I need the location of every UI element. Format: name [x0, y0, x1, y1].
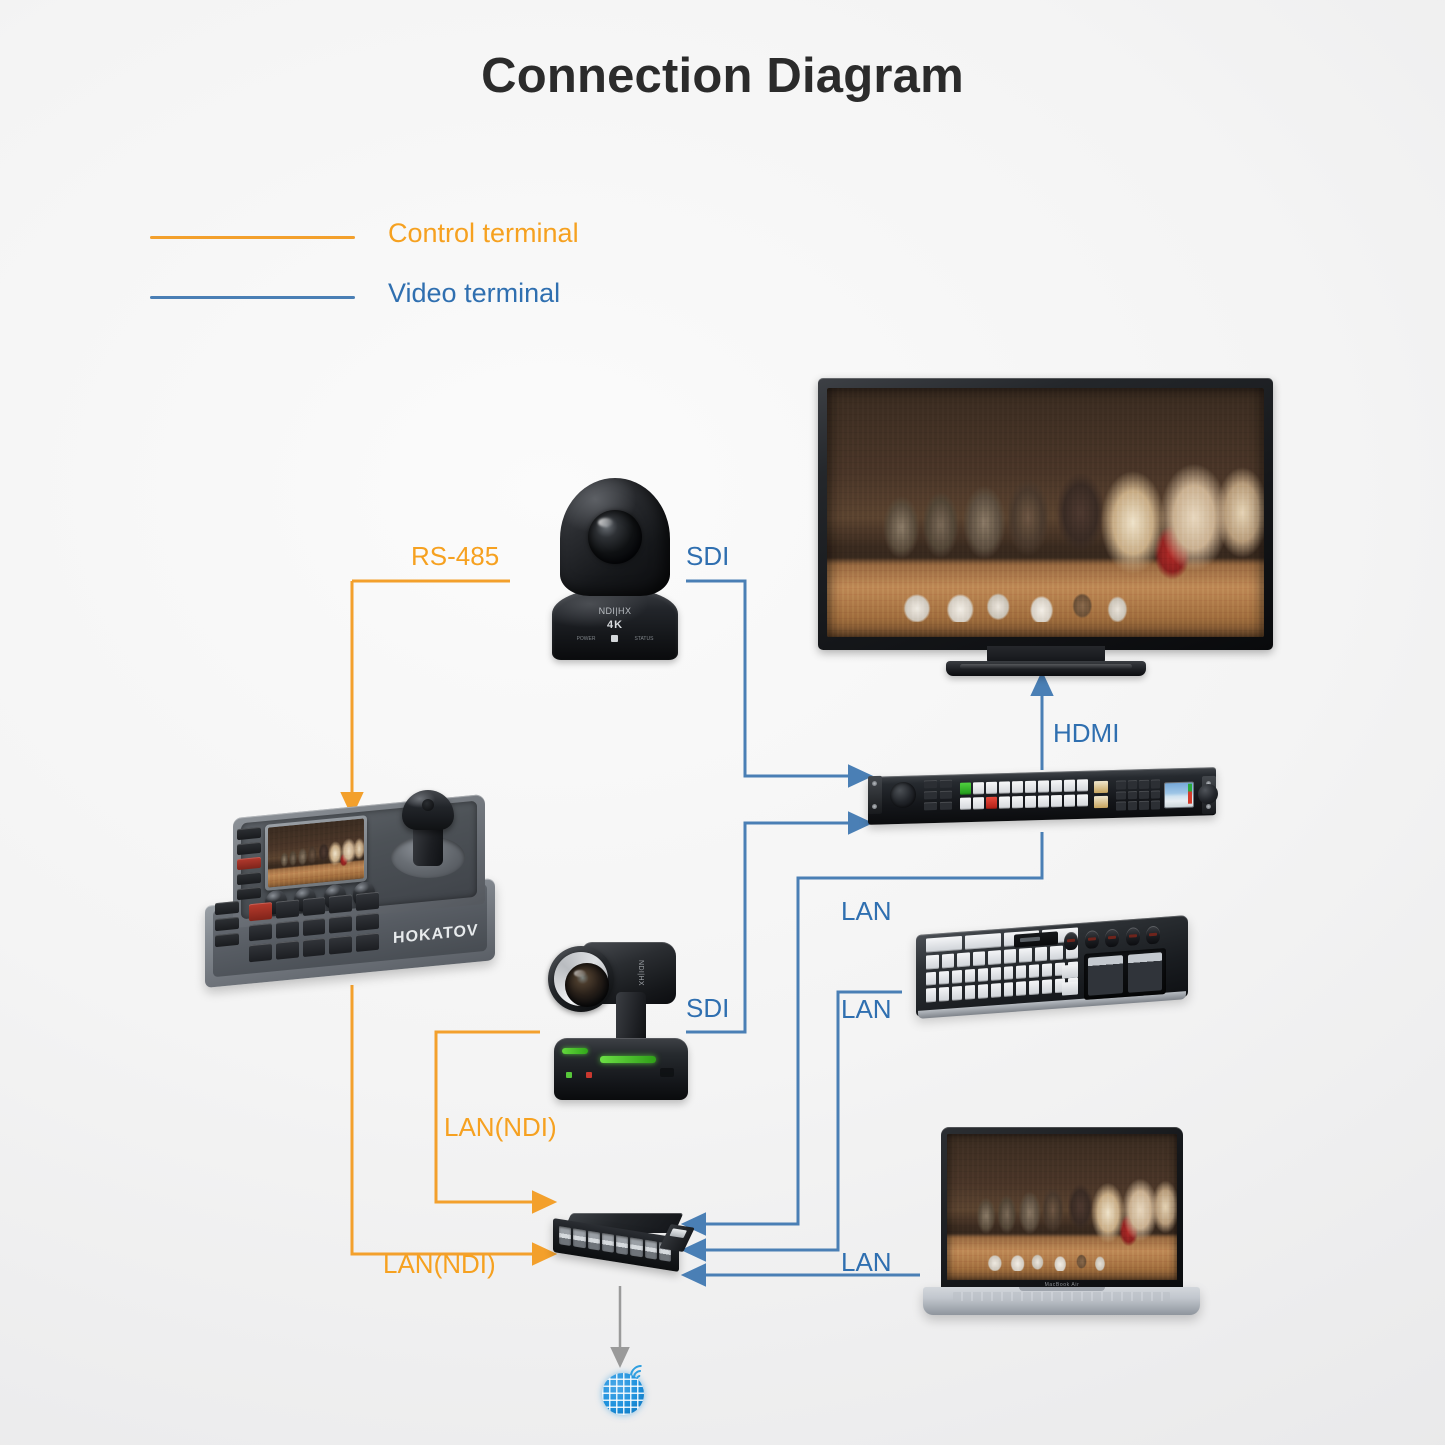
console-button[interactable] [965, 933, 1001, 949]
controller-side-button[interactable] [237, 827, 261, 840]
monitor-bezel [818, 378, 1273, 650]
rack-amber-buttons[interactable] [1094, 781, 1108, 808]
camera-indicator-leds [566, 1072, 592, 1078]
wire-label-rs485: RS-485 [411, 541, 499, 572]
console-button[interactable] [1050, 945, 1063, 960]
switcher-control-panel[interactable] [916, 925, 1188, 1025]
rack-bus-button[interactable] [1038, 795, 1049, 807]
wire-label-lan-rack: LAN [841, 896, 892, 927]
rack-keypad-key[interactable] [1151, 790, 1161, 799]
console-fader[interactable] [1128, 952, 1163, 993]
network-switch[interactable] [553, 1213, 685, 1277]
console-button[interactable] [926, 954, 939, 969]
controller-keypad-key[interactable] [276, 941, 299, 960]
ptz-camera-box[interactable]: NDI|HX [548, 940, 688, 1106]
rack-bus-button[interactable] [960, 797, 971, 809]
controller-lcd-screen[interactable] [265, 815, 367, 891]
console-fader[interactable] [1088, 955, 1123, 996]
controller-keypad-key[interactable] [329, 936, 352, 955]
monitor-display[interactable] [818, 378, 1273, 676]
console-button[interactable] [1035, 946, 1048, 961]
camera-lens-glass [565, 963, 609, 1007]
ethernet-port[interactable] [573, 1228, 585, 1248]
controller-side-button[interactable] [237, 842, 261, 855]
console-button[interactable] [1042, 980, 1052, 994]
rack-bus-button[interactable] [1051, 795, 1062, 807]
controller-lcd-image [268, 818, 364, 887]
wire-label-ndi-box: LAN(NDI) [444, 1112, 557, 1143]
rack-keypad-key[interactable] [1116, 791, 1126, 800]
laptop-keyboard[interactable] [953, 1292, 1170, 1301]
camera-led-row: POWER STATUS [552, 635, 678, 642]
console-button[interactable] [965, 969, 975, 983]
rack-keypad-key[interactable] [1151, 779, 1161, 788]
console-side-button[interactable] [1062, 964, 1078, 978]
rack-bus-button[interactable] [973, 782, 984, 794]
controller-side-button-record[interactable] [237, 857, 261, 870]
console-button[interactable] [952, 986, 962, 1000]
laptop-image-detail [975, 1245, 1118, 1271]
rack-bus-button[interactable] [999, 796, 1010, 808]
console-button[interactable] [988, 950, 1001, 965]
console-button[interactable] [952, 969, 962, 983]
rack-keypad-key[interactable] [1139, 801, 1149, 810]
led-green-icon [566, 1072, 572, 1078]
controller-keypad-key[interactable] [303, 918, 326, 937]
rack-amber-button[interactable] [1094, 796, 1108, 808]
camera-ir-receiver [660, 1068, 674, 1077]
rack-numeric-keypad[interactable] [1116, 779, 1160, 810]
camera-lens-ring [554, 952, 608, 1006]
console-knob[interactable] [1064, 931, 1078, 950]
console-side-buttons[interactable] [1062, 964, 1078, 995]
camera-status-led-strip [600, 1056, 656, 1063]
ethernet-port[interactable] [588, 1231, 600, 1251]
console-tbar-faders[interactable] [1084, 948, 1166, 1000]
console-button[interactable] [939, 987, 949, 1001]
monitor-stand-base [946, 661, 1146, 676]
wire-label-lan-console: LAN [841, 994, 892, 1025]
console-button[interactable] [1029, 964, 1039, 978]
console-knob[interactable] [1146, 925, 1160, 944]
console-button[interactable] [939, 970, 949, 984]
console-button[interactable] [965, 985, 975, 999]
wire-label-lan-laptop: LAN [841, 1247, 892, 1278]
rack-bus-button[interactable] [1012, 781, 1023, 793]
camera-dome-housing [560, 478, 670, 596]
rack-bus-button-preview[interactable] [986, 797, 997, 809]
rack-bus-button[interactable] [1064, 795, 1075, 807]
controller-keypad-key[interactable] [303, 897, 326, 916]
console-button[interactable] [926, 936, 962, 952]
rack-mini-button[interactable] [940, 802, 953, 810]
wire-label-sdi-top: SDI [686, 541, 729, 572]
console-button[interactable] [973, 951, 986, 966]
console-knob[interactable] [1105, 928, 1119, 947]
camera-ir-window-icon [611, 635, 618, 642]
console-button[interactable] [991, 983, 1001, 997]
console-knob[interactable] [1085, 930, 1099, 949]
joystick-knob[interactable] [402, 790, 454, 830]
ptz-controller-keyboard[interactable]: HOKATOV [205, 806, 495, 984]
ethernet-port[interactable] [630, 1237, 642, 1257]
camera-resolution-label: 4K [552, 619, 678, 631]
controller-keypad-key[interactable] [329, 894, 352, 913]
controller-function-keys[interactable] [215, 901, 239, 955]
console-button[interactable] [1019, 948, 1032, 963]
controller-keypad-key[interactable] [276, 920, 299, 939]
laptop-lid: MacBook Air [941, 1127, 1183, 1290]
rack-bus-button[interactable] [1051, 780, 1062, 792]
wire-label-hdmi: HDMI [1053, 718, 1119, 749]
console-button[interactable] [1004, 982, 1014, 996]
controller-function-key[interactable] [215, 901, 239, 915]
rack-bus-button[interactable] [973, 797, 984, 809]
rack-keypad-key[interactable] [1116, 780, 1126, 789]
laptop-computer[interactable]: MacBook Air [923, 1127, 1200, 1323]
wifi-icon [632, 1365, 658, 1389]
rack-keypad-key[interactable] [1128, 780, 1138, 789]
camera-led-label-power: POWER [577, 636, 596, 642]
rack-video-switcher[interactable] [868, 770, 1216, 832]
rack-bus-button[interactable] [986, 782, 997, 794]
console-button[interactable] [926, 971, 936, 985]
rack-preview-screen[interactable] [1164, 782, 1194, 809]
connection-wires [0, 0, 1445, 1445]
camera-lens-barrel [548, 946, 614, 1012]
controller-keypad-key[interactable] [329, 915, 352, 934]
console-button[interactable] [978, 968, 988, 982]
console-button[interactable] [942, 953, 955, 968]
controller-keypad-key[interactable] [249, 923, 272, 942]
console-button[interactable] [991, 967, 1001, 981]
console-button[interactable] [1004, 949, 1017, 964]
rack-mini-button[interactable] [924, 780, 937, 788]
rack-bus-button[interactable] [1038, 780, 1049, 792]
console-knob[interactable] [1126, 927, 1140, 946]
laptop-base [923, 1287, 1200, 1315]
network-switch-uplink-port[interactable] [669, 1228, 687, 1238]
camera-lens [588, 510, 642, 564]
rack-keypad-key[interactable] [1139, 780, 1149, 789]
controller-keypad-key[interactable] [356, 912, 379, 931]
controller-keypad-key[interactable] [276, 899, 299, 918]
controller-keypad-key-1[interactable] [249, 902, 272, 921]
rack-mini-button[interactable] [924, 791, 937, 799]
internet-globe-icon [602, 1365, 658, 1417]
rack-mini-button[interactable] [940, 780, 953, 788]
controller-function-key[interactable] [215, 933, 239, 947]
console-button[interactable] [1029, 981, 1039, 995]
monitor-screen-image [827, 388, 1264, 637]
diagram-canvas: Connection Diagram Control terminal Vide… [0, 0, 1445, 1445]
wire-label-sdi-box: SDI [686, 993, 729, 1024]
rack-bus-button[interactable] [1012, 796, 1023, 808]
controller-joystick[interactable] [391, 790, 465, 894]
rack-bus-button[interactable] [1077, 779, 1088, 791]
camera-status-led-left [562, 1048, 588, 1054]
controller-keypad-key[interactable] [356, 933, 379, 952]
rack-bus-button[interactable] [999, 781, 1010, 793]
rack-bus-button[interactable] [1064, 780, 1075, 792]
rack-mini-button[interactable] [924, 802, 937, 810]
console-button[interactable] [926, 988, 936, 1002]
console-button[interactable] [978, 984, 988, 998]
wire-label-ndi-ctrl: LAN(NDI) [383, 1249, 496, 1280]
rack-keypad-key[interactable] [1151, 801, 1161, 810]
rack-bus-button[interactable] [1025, 796, 1036, 808]
controller-side-buttons[interactable] [237, 827, 261, 903]
ptz-camera-dome[interactable]: NDI|HX 4K POWER STATUS [552, 478, 678, 660]
monitor-image-detail [879, 577, 1150, 622]
rack-keypad-key[interactable] [1128, 801, 1138, 810]
console-button[interactable] [957, 952, 970, 967]
controller-keypad-key[interactable] [249, 943, 272, 962]
rack-keypad-key[interactable] [1116, 802, 1126, 811]
rack-mini-buttons[interactable] [924, 780, 952, 811]
console-button[interactable] [1042, 963, 1052, 977]
ethernet-port[interactable] [645, 1240, 657, 1260]
console-button[interactable] [1016, 981, 1026, 995]
console-button[interactable] [1016, 965, 1026, 979]
camera-body-brand-label: NDI|HX [637, 960, 644, 986]
rack-amber-button[interactable] [1094, 781, 1108, 793]
camera-led-label-status: STATUS [634, 636, 653, 642]
rack-mini-button[interactable] [940, 791, 953, 799]
camera-pan-arm [616, 992, 646, 1042]
ethernet-port[interactable] [616, 1235, 628, 1255]
rack-keypad-key[interactable] [1128, 791, 1138, 800]
controller-keypad-key[interactable] [356, 892, 379, 911]
controller-function-key[interactable] [215, 917, 239, 931]
rack-bus-button[interactable] [1025, 781, 1036, 793]
ethernet-port[interactable] [559, 1226, 571, 1246]
led-red-icon [586, 1072, 592, 1078]
laptop-screen-image [947, 1134, 1177, 1280]
rack-keypad-key[interactable] [1139, 790, 1149, 799]
controller-keypad-key[interactable] [303, 938, 326, 957]
controller-side-button[interactable] [237, 872, 261, 885]
controller-side-button[interactable] [237, 887, 261, 900]
console-side-button[interactable] [1062, 981, 1078, 995]
rack-bus-button[interactable] [1077, 794, 1088, 806]
rack-mount-ear-left [868, 776, 882, 814]
ethernet-port[interactable] [602, 1233, 614, 1253]
console-button[interactable] [1004, 966, 1014, 980]
camera-brand-label: NDI|HX [552, 606, 678, 616]
rack-bus-button-active[interactable] [960, 782, 971, 794]
